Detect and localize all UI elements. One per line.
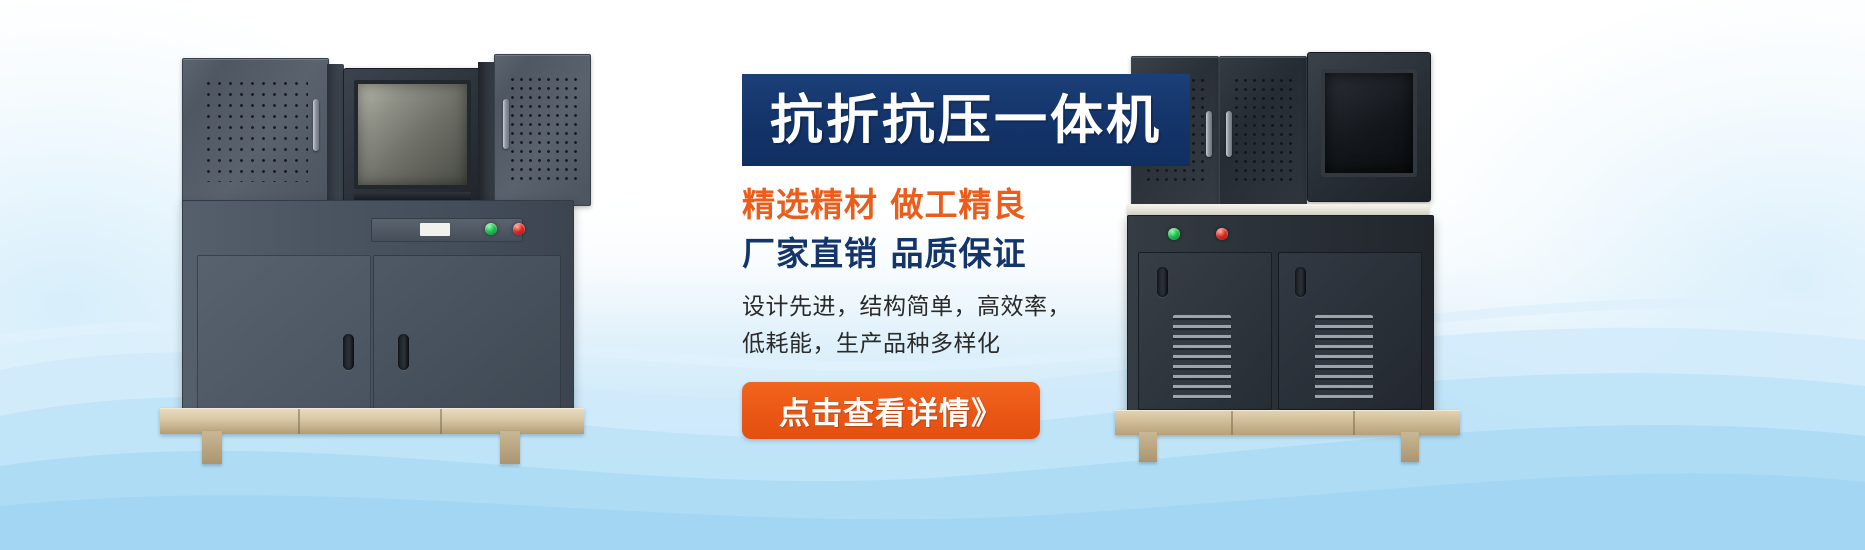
page-title: 抗折抗压一体机 — [770, 94, 1162, 147]
left-machine-pallet-foot — [202, 431, 222, 464]
perforation-pattern — [508, 75, 576, 183]
left-machine-upper-left-door — [182, 58, 329, 205]
pallet-seam — [1231, 411, 1233, 435]
description-line-1: 设计先进，结构简单，高效率， — [742, 289, 1212, 327]
pallet-seam — [298, 409, 300, 434]
left-machine-upper-left-door-side — [327, 64, 344, 202]
left-machine-power-indicator — [485, 223, 497, 235]
product-image-left — [160, 40, 600, 430]
promo-copy-block: 抗折抗压一体机 精选精材 做工精良 厂家直销 品质保证 设计先进，结构简单，高效… — [742, 74, 1212, 439]
promo-banner: 抗折抗压一体机 精选精材 做工精良 厂家直销 品质保证 设计先进，结构简单，高效… — [0, 0, 1865, 550]
left-machine-lower-door-left — [197, 255, 371, 409]
pallet-seam — [440, 409, 442, 434]
door-handle-icon — [313, 99, 319, 151]
right-machine-upper-door-right — [1219, 56, 1307, 206]
left-machine-control-drawer — [371, 218, 523, 242]
left-machine-upper-right-door-side — [478, 62, 494, 204]
left-machine-upper-right-door — [494, 54, 591, 206]
left-machine-lower-door-right — [373, 255, 561, 409]
right-machine-lower-door-right — [1278, 252, 1422, 410]
right-machine-monitor-housing — [1307, 52, 1431, 202]
pallet-seam — [1353, 411, 1355, 435]
view-details-button-label: 点击查看详情》 — [779, 388, 1003, 433]
left-machine-monitor-housing — [343, 68, 482, 204]
left-machine-pallet-foot — [500, 431, 520, 464]
description-line-2: 低耗能，生产品种多样化 — [742, 326, 1212, 364]
door-handle-icon — [1226, 111, 1232, 157]
view-details-button[interactable]: 点击查看详情》 — [742, 382, 1040, 439]
subtitle-secondary: 厂家直销 品质保证 — [742, 233, 1212, 274]
door-handle-icon — [398, 334, 409, 370]
left-machine-stop-indicator — [513, 223, 525, 235]
door-handle-icon — [343, 334, 354, 370]
perforation-pattern — [1232, 76, 1294, 183]
left-machine-drawer-label — [420, 223, 450, 236]
door-handle-icon — [503, 99, 509, 149]
left-machine-cabinet-body — [182, 200, 574, 417]
door-handle-icon — [1295, 267, 1306, 297]
left-machine-monitor-screen — [354, 80, 471, 189]
subtitle-primary: 精选精材 做工精良 — [742, 184, 1212, 225]
right-machine-monitor-screen — [1321, 69, 1417, 177]
perforation-pattern — [203, 78, 307, 182]
ventilation-louvers — [1315, 315, 1373, 399]
left-machine-pallet — [160, 408, 584, 434]
right-machine-pallet-foot — [1401, 432, 1419, 462]
headline-banner: 抗折抗压一体机 — [742, 74, 1190, 166]
right-machine-stop-indicator — [1216, 228, 1228, 240]
